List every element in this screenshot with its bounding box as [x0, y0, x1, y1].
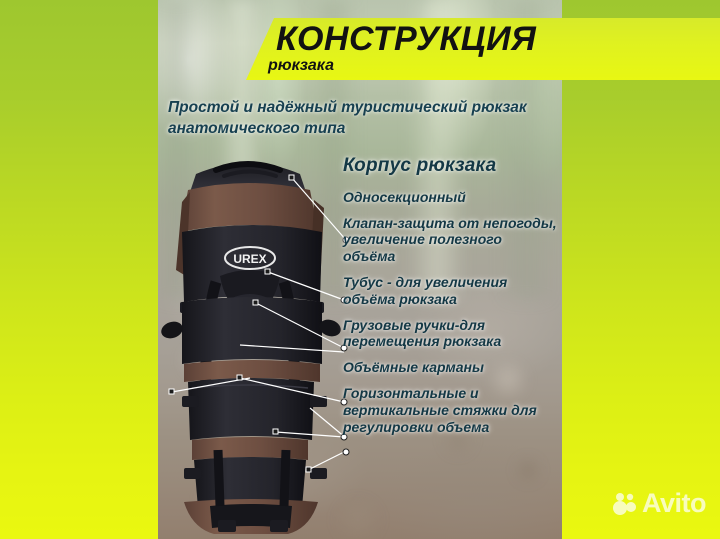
intro-text: Простой и надёжный туристический рюкзак …	[168, 98, 528, 139]
avito-watermark: Avito	[612, 490, 706, 517]
page-subtitle-word: рюкзака	[268, 57, 334, 75]
annotation-list: Корпус рюкзака Односекционный Клапан-защ…	[343, 155, 558, 444]
annotation-odnosekcionny: Односекционный	[343, 189, 558, 206]
annotation-klapan: Клапан-защита от непогоды, увеличение по…	[343, 215, 558, 265]
avito-dots-icon	[612, 491, 638, 517]
annotation-ruchki: Грузовые ручки-для перемещения рюкзака	[343, 317, 558, 351]
annotation-tubus: Тубус - для увеличения объёма рюкзака	[343, 274, 558, 308]
page-title: КОНСТРУКЦИЯ	[276, 20, 536, 59]
avito-wordmark: Avito	[642, 490, 706, 517]
right-color-band	[562, 0, 720, 539]
annotation-styazhki: Горизонтальные и вертикальные стяжки для…	[343, 385, 558, 435]
annotation-korpus: Корпус рюкзака	[343, 155, 558, 178]
left-color-band	[0, 0, 158, 539]
brand-logo: UREX	[233, 252, 266, 266]
annotation-karmany: Объёмные карманы	[343, 359, 558, 376]
infographic-canvas: UREX	[0, 0, 720, 539]
